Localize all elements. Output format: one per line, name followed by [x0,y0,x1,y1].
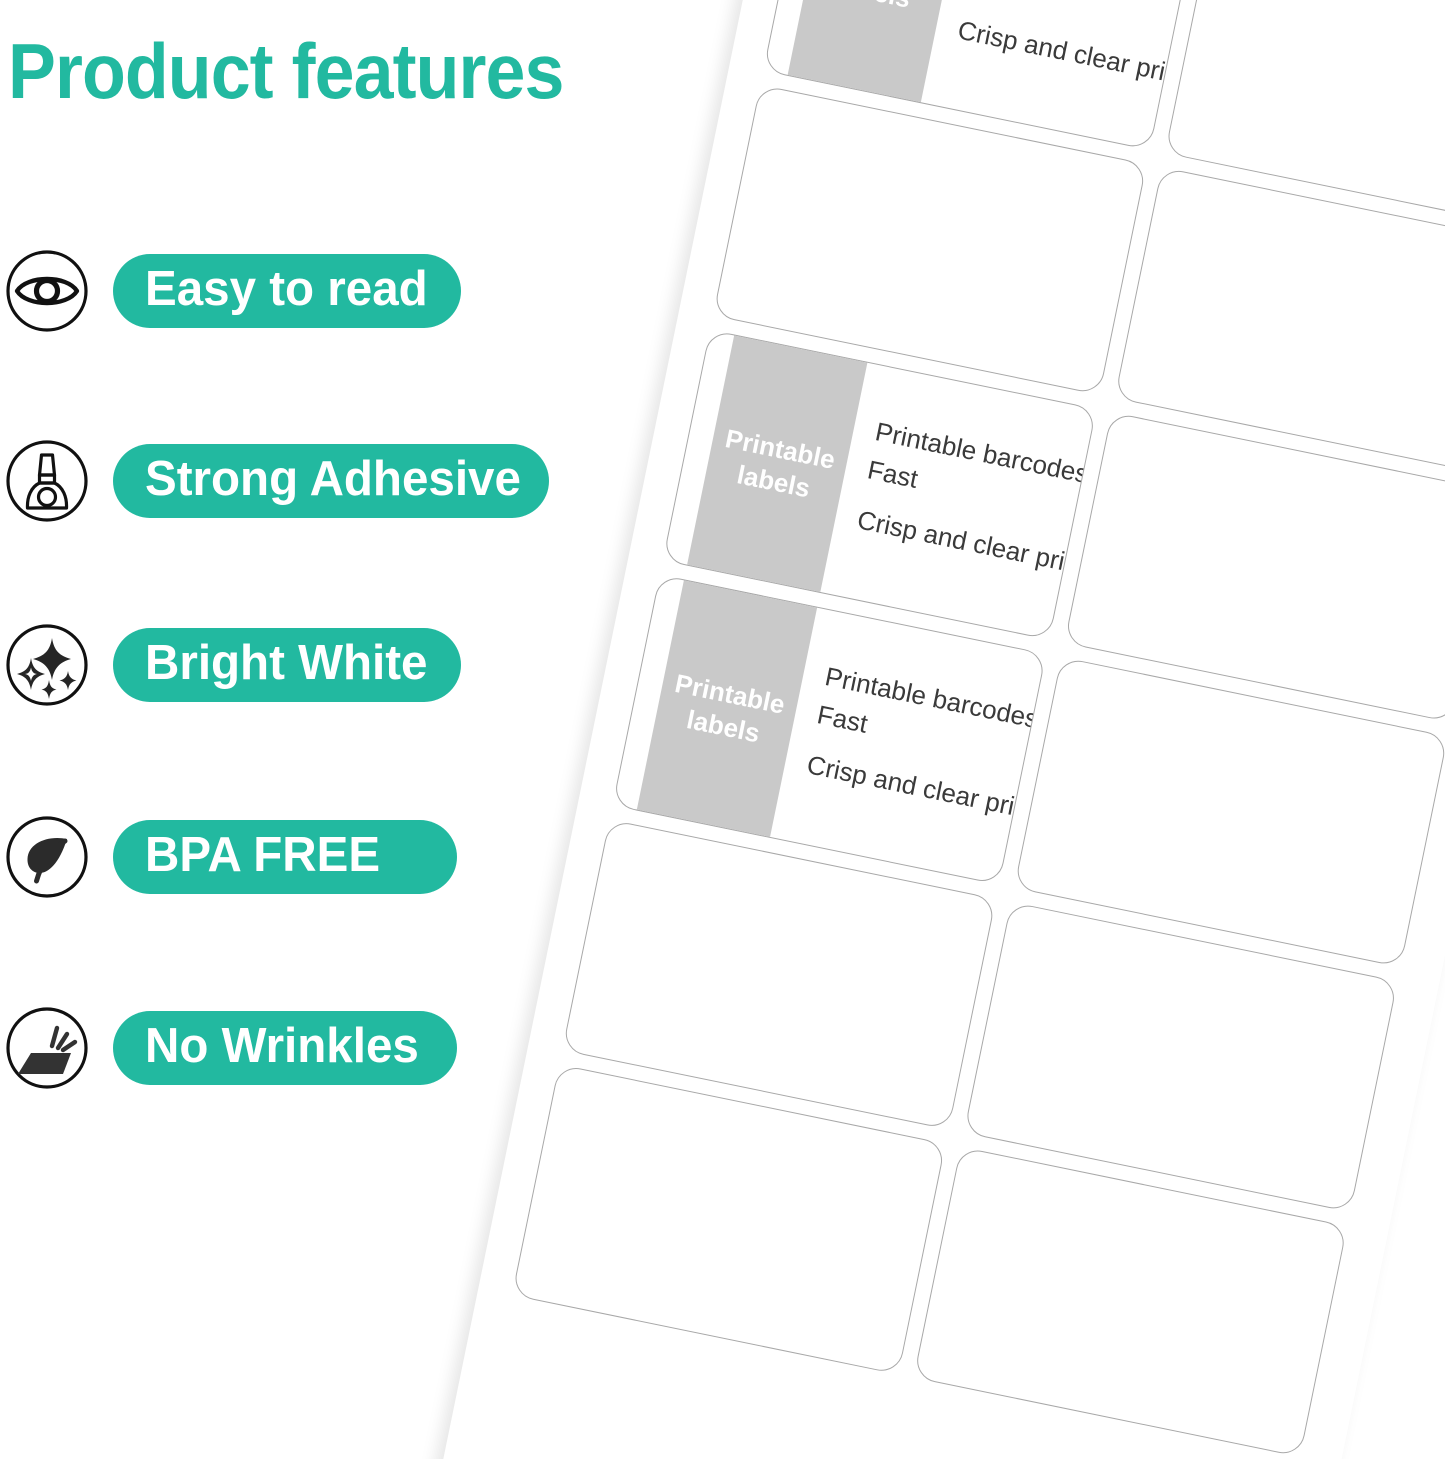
feature-pill-no-wrinkles[interactable]: No Wrinkles [113,1011,457,1085]
swatch-line: labels [835,0,913,12]
feature-pill-bright-white[interactable]: Bright White [113,628,461,702]
glue-bottle-icon [5,439,89,523]
feature-pill-easy-to-read[interactable]: Easy to read [113,254,461,328]
feature-label: Strong Adhesive [145,455,521,508]
label-body-text: Printable barcodesFastCrisp and clear pr… [805,663,1047,823]
feature-row-bright-white: Bright White [0,622,461,708]
feature-row-easy-to-read: Easy to read [0,248,461,334]
feature-row-no-wrinkles: No Wrinkles [0,1005,457,1091]
features-panel: Product features Easy to read Strong [0,0,720,1459]
label-body-text: Printable barcodesFastCrisp and clear pr… [956,0,1198,88]
feature-label: No Wrinkles [145,1022,419,1075]
feature-label: Bright White [145,639,427,692]
feature-row-strong-adhesive: Strong Adhesive [0,438,549,524]
feature-pill-bpa-free[interactable]: BPA FREE [113,820,457,894]
flat-sheet-icon [5,1006,89,1090]
feature-pill-strong-adhesive[interactable]: Strong Adhesive [113,444,549,518]
feature-row-bpa-free: BPA FREE [0,814,457,900]
feature-label: Easy to read [145,265,428,318]
sparkles-icon [5,623,89,707]
eye-icon [5,249,89,333]
label-body-text: Printable barcodesFastCrisp and clear pr… [855,418,1097,578]
leaf-icon [5,815,89,899]
page-title: Product features [8,26,564,117]
feature-label: BPA FREE [145,831,380,884]
